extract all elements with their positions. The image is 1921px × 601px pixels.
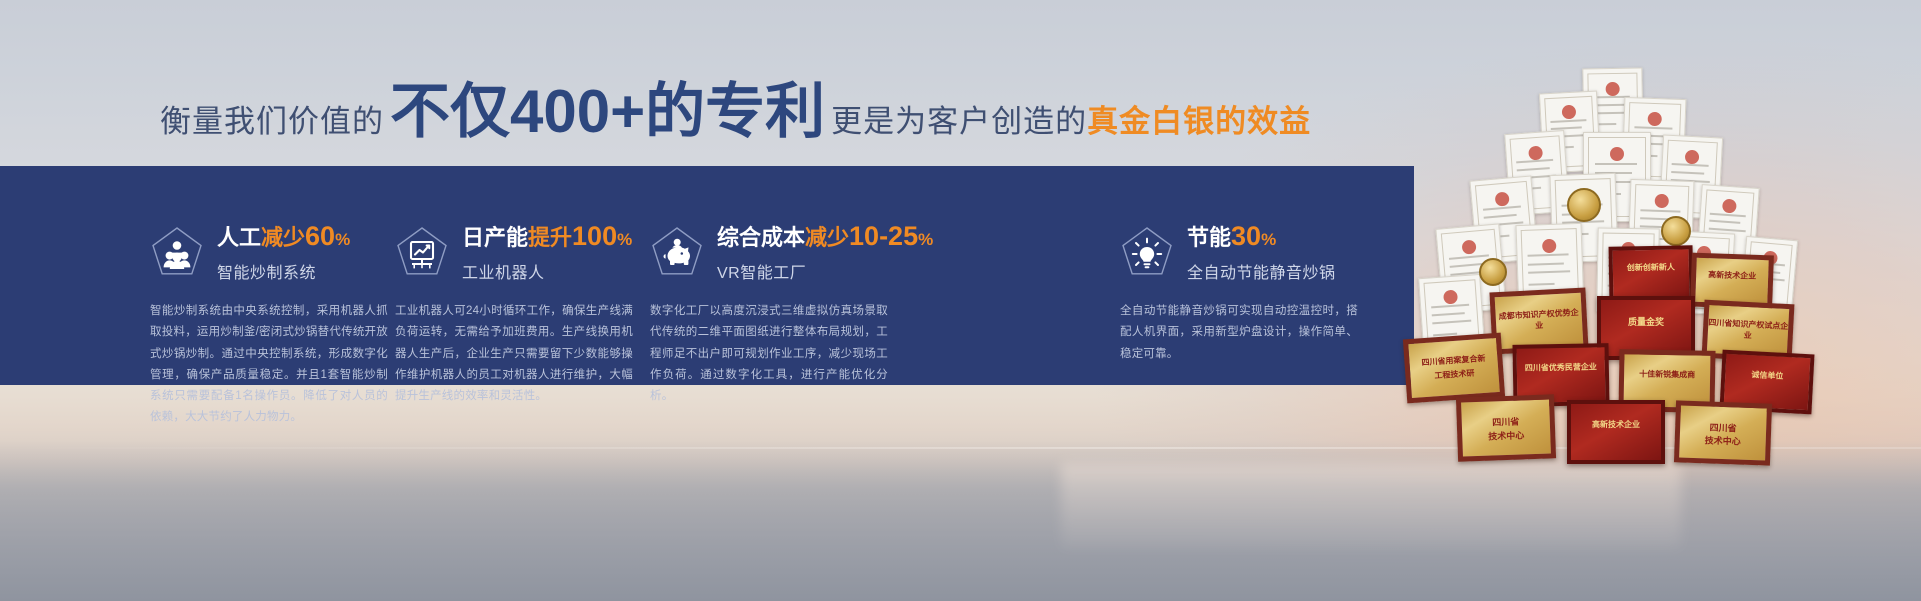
feature-title-1: 人工减少60%: [217, 221, 350, 252]
feature-metric-value-3: 10-25: [849, 221, 918, 251]
certificate-text-line: [1710, 212, 1746, 216]
plaque-title-line-1: 高新技术企业: [1571, 419, 1661, 430]
feature-title-highlight-2: 提升: [528, 225, 572, 250]
feature-title-lead-1: 人工: [217, 225, 261, 250]
headline-accent: 真金白银的效益: [1087, 96, 1311, 141]
certificate-text-line: [1517, 167, 1550, 171]
certificate-text-line: [1550, 119, 1586, 123]
certificate-text-line: [1528, 254, 1569, 257]
feature-subtitle-2: 工业机器人: [462, 259, 632, 283]
certificate-seal-icon: [1443, 290, 1458, 305]
plaque-title-line-2: 技术中心: [1680, 433, 1766, 449]
feature-heading-4: 节能30% 全自动节能静音炒锅: [1120, 221, 1336, 283]
feature-description-2: 工业机器人可24小时循环工作，确保生产线满负荷运转，无需给予加班费用。生产线换用…: [395, 301, 633, 407]
certificate-text-line: [1672, 163, 1709, 167]
feature-item-1: 人工减少60% 智能炒制系统 智能炒制系统由中央系统控制，采用机器人抓取投料，运…: [150, 166, 428, 385]
certificate-text-line: [1528, 262, 1564, 265]
gold-award-plaque: 四川省 技术中心: [1456, 394, 1556, 461]
certificate-wall: 创新创新新人 高新技术企业 成都市知识产权优势企业 质量金奖 四川省知识产权试点…: [1361, 40, 1921, 570]
certificate-text-line: [1640, 209, 1680, 212]
piggy-bank-icon: [650, 225, 704, 279]
feature-subtitle-1: 智能炒制系统: [217, 259, 350, 283]
certificate-text-line: [1449, 254, 1489, 259]
award-medal: [1567, 188, 1601, 222]
certificate-seal-icon: [1542, 239, 1556, 253]
feature-metric-unit-1: %: [335, 230, 350, 249]
certificate-text-line: [1593, 104, 1625, 107]
feature-title-3: 综合成本减少10-25%: [717, 221, 933, 252]
headline-mid: 更是为客户创造的: [831, 96, 1087, 141]
certificate-seal-icon: [1606, 82, 1620, 96]
plaque-title-line-1: 十佳新锐集成商: [1624, 368, 1710, 380]
certificate-text-line: [1595, 163, 1637, 165]
feature-metric-unit-3: %: [918, 230, 933, 249]
certificate-text-line: [1432, 320, 1472, 325]
feature-title-lead-4: 节能: [1187, 225, 1231, 250]
plaque-title-line-1: 创新创新新人: [1613, 262, 1689, 274]
feature-metric-unit-2: %: [617, 230, 632, 249]
plaque-title-line-2: 技术中心: [1462, 428, 1550, 444]
certificate-text-line: [1634, 126, 1672, 129]
certificate-text-line: [1483, 205, 1521, 210]
plaque-title-line-2: [1613, 274, 1689, 275]
certificate-text-line: [1671, 171, 1704, 175]
plaque-title-line-1: 成都市知识产权优势企业: [1495, 306, 1582, 332]
feature-title-highlight-3: 减少: [805, 225, 849, 250]
headline: 衡量我们价值的 不仅400+的专利 更是为客户创造的 真金白银的效益: [160, 82, 1311, 142]
certificate-seal-icon: [1528, 145, 1543, 160]
feature-item-3: 综合成本减少10-25% VR智能工厂 数字化工厂以高度沉浸式三维虚拟仿真场景取…: [650, 166, 928, 385]
plaque-title-line-2: [1517, 375, 1605, 377]
feature-description-3: 数字化工厂以高度沉浸式三维虚拟仿真场景取代传统的二维平面图纸进行整体布局规划，工…: [650, 301, 888, 407]
plaque-title-line-1: 质量金奖: [1601, 315, 1691, 328]
promo-banner: 创新创新新人 高新技术企业 成都市知识产权优势企业 质量金奖 四川省知识产权试点…: [0, 0, 1921, 601]
feature-metric-unit-4: %: [1261, 230, 1276, 249]
certificate-text-line: [1483, 214, 1517, 219]
feature-title-block-2: 日产能提升100% 工业机器人: [462, 221, 632, 283]
feature-title-4: 节能30%: [1187, 221, 1336, 252]
certificate-seal-icon: [1655, 194, 1669, 208]
certificate-seal-icon: [1647, 112, 1661, 126]
certificate-seal-icon: [1495, 192, 1510, 207]
headline-lead: 衡量我们价值的: [160, 96, 384, 141]
award-medal: [1661, 216, 1691, 246]
certificate-text-line: [1528, 271, 1570, 274]
gold-award-plaque: 四川省用案复合新 工程技术研: [1403, 333, 1505, 404]
feature-title-lead-3: 综合成本: [717, 225, 805, 250]
lightbulb-icon: [1120, 225, 1174, 279]
certificate-text-line: [1709, 220, 1740, 224]
plaque-title-line-1: 高新技术企业: [1696, 269, 1768, 283]
feature-metric-value-2: 100: [572, 221, 617, 251]
feature-metric-value-1: 60: [305, 221, 335, 251]
feature-heading-2: 日产能提升100% 工业机器人: [395, 221, 632, 283]
people-group-icon: [150, 225, 204, 279]
feature-subtitle-3: VR智能工厂: [717, 259, 933, 283]
chart-board-icon: [395, 225, 449, 279]
feature-description-4: 全自动节能静音炒锅可实现自动控温控时，搭配人机界面，采用新型炉盘设计，操作简单、…: [1120, 301, 1358, 365]
feature-panel: 人工减少60% 智能炒制系统 智能炒制系统由中央系统控制，采用机器人抓取投料，运…: [0, 166, 1414, 385]
feature-heading-3: 综合成本减少10-25% VR智能工厂: [650, 221, 933, 283]
plaque-title-line-1: 四川省优秀民营企业: [1517, 361, 1605, 374]
headline-strong: 不仅400+的专利: [390, 82, 825, 142]
red-award-plaque: 创新创新新人: [1609, 245, 1694, 302]
certificate-seal-icon: [1610, 147, 1624, 161]
plaque-title-line-2: [1624, 381, 1710, 383]
feature-title-block-4: 节能30% 全自动节能静音炒锅: [1187, 221, 1336, 283]
certificate-text-line: [1431, 312, 1465, 316]
plaque-title-line-1: 四川省知识产权试点企业: [1708, 317, 1789, 343]
plaque-title-line-2: 工程技术研: [1410, 366, 1499, 383]
certificate-text-line: [1529, 283, 1555, 286]
red-award-plaque: 高新技术企业: [1567, 400, 1665, 464]
feature-title-block-1: 人工减少60% 智能炒制系统: [217, 221, 350, 283]
certificate-text-line: [1516, 159, 1553, 164]
feature-title-lead-2: 日产能: [462, 225, 528, 250]
feature-heading-1: 人工减少60% 智能炒制系统: [150, 221, 350, 283]
certificate-seal-icon: [1722, 199, 1737, 214]
certificate-text-line: [1431, 304, 1469, 309]
plaque-title-line-1: 诚信单位: [1725, 367, 1809, 382]
feature-metric-value-4: 30: [1231, 221, 1261, 251]
feature-title-highlight-1: 减少: [261, 225, 305, 250]
feature-item-4: 节能30% 全自动节能静音炒锅 全自动节能静音炒锅可实现自动控温控时，搭配人机界…: [1120, 166, 1398, 385]
certificate-seal-icon: [1462, 240, 1477, 255]
certificate-seal-icon: [1685, 149, 1700, 164]
award-medal: [1479, 258, 1507, 286]
feature-subtitle-4: 全自动节能静音炒锅: [1187, 259, 1336, 283]
feature-description-1: 智能炒制系统由中央系统控制，采用机器人抓取投料，运用炒制釜/密闭式炒锅替代传统开…: [150, 301, 388, 429]
certificate-seal-icon: [1562, 105, 1577, 120]
feature-item-2: 日产能提升100% 工业机器人 工业机器人可24小时循环工作，确保生产线满负荷运…: [395, 166, 673, 385]
feature-title-block-3: 综合成本减少10-25% VR智能工厂: [717, 221, 933, 283]
gold-award-plaque: 四川省 技术中心: [1674, 400, 1772, 465]
feature-title-2: 日产能提升100%: [462, 221, 632, 252]
